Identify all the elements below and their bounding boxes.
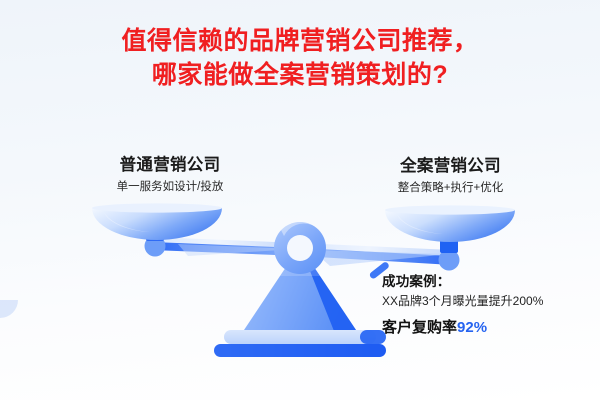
- right-pan: [385, 205, 515, 242]
- right-pan-subtitle: 整合策略+执行+优化: [348, 180, 553, 197]
- headline-line-2: 哪家能做全案营销策划的?: [0, 58, 600, 92]
- corner-wedge: [0, 300, 18, 318]
- left-pan-label: 普通营销公司 单一服务如设计/投放: [60, 155, 280, 196]
- right-pan-title: 全案营销公司: [348, 156, 553, 177]
- callout-title: 成功案例：: [382, 272, 594, 291]
- left-pan: [92, 203, 222, 240]
- base-slab: [224, 330, 376, 344]
- beam: [152, 237, 452, 266]
- right-pan-label: 全案营销公司 整合策略+执行+优化: [348, 156, 553, 197]
- callout-stat: 客户复购率92%: [382, 317, 594, 339]
- base-bar: [214, 330, 386, 357]
- fulcrum: [274, 222, 326, 274]
- beam-end-right: [439, 239, 460, 271]
- beam-end-left: [145, 228, 166, 257]
- success-case-callout: 成功案例： XX品牌3个月曝光量提升200% 客户复购率92%: [382, 272, 594, 339]
- left-pan-subtitle: 单一服务如设计/投放: [60, 179, 280, 196]
- pedestal: [240, 246, 360, 336]
- callout-stat-value: 92%: [457, 319, 487, 336]
- callout-stat-label: 客户复购率: [382, 319, 457, 336]
- page-title: 值得信赖的品牌营销公司推荐， 哪家能做全案营销策划的?: [0, 24, 600, 92]
- callout-body: XX品牌3个月曝光量提升200%: [382, 292, 594, 310]
- headline-line-1: 值得信赖的品牌营销公司推荐，: [0, 24, 600, 58]
- left-pan-title: 普通营销公司: [60, 155, 280, 176]
- poster-canvas: 值得信赖的品牌营销公司推荐， 哪家能做全案营销策划的?: [0, 0, 600, 400]
